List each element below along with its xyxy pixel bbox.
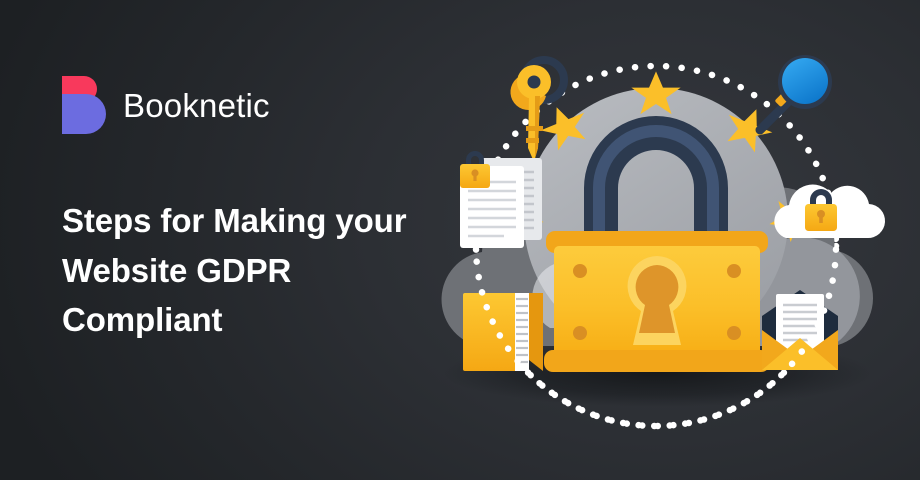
booknetic-b-logo-icon bbox=[62, 74, 106, 136]
banner-text-column: Booknetic Steps for Making your Website … bbox=[62, 0, 442, 480]
notebook-icon bbox=[463, 293, 543, 371]
padlock-base bbox=[544, 350, 770, 372]
magnifying-glass-icon bbox=[760, 55, 832, 130]
page-title: Steps for Making your Website GDPR Compl… bbox=[62, 196, 422, 345]
gdpr-promo-banner: Booknetic Steps for Making your Website … bbox=[0, 0, 920, 480]
document-stack-lock-icon bbox=[460, 151, 542, 248]
gdpr-illustration bbox=[418, 28, 888, 453]
small-padlock-icon bbox=[460, 151, 490, 188]
brand-logo[interactable]: Booknetic bbox=[62, 74, 270, 136]
brand-name: Booknetic bbox=[123, 89, 270, 122]
